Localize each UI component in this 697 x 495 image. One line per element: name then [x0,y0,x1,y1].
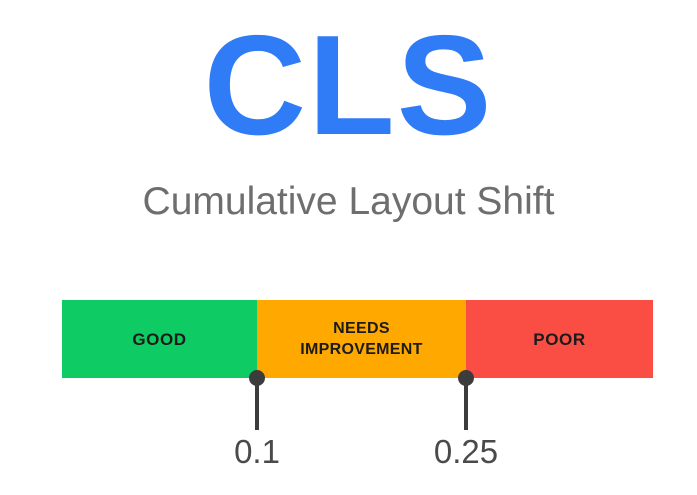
cls-metric-infographic: CLS Cumulative Layout Shift GOOD NEEDS I… [0,0,697,495]
metric-abbreviation: CLS [0,6,697,166]
scale-segment-needs-improvement-label: NEEDS IMPROVEMENT [300,318,422,360]
threshold-scale: GOOD NEEDS IMPROVEMENT POOR 0.1 0.25 [62,300,653,378]
scale-segment-good: GOOD [62,300,257,378]
scale-segment-poor: POOR [466,300,653,378]
metric-full-name: Cumulative Layout Shift [0,178,697,226]
scale-segment-good-label: GOOD [132,329,186,350]
threshold-marker-stem [464,378,468,430]
threshold-value-high: 0.25 [396,432,536,472]
scale-segment-poor-label: POOR [533,329,585,350]
scale-segment-needs-improvement: NEEDS IMPROVEMENT [257,300,466,378]
threshold-marker-stem [255,378,259,430]
threshold-bar: GOOD NEEDS IMPROVEMENT POOR [62,300,653,378]
threshold-value-low: 0.1 [187,432,327,472]
